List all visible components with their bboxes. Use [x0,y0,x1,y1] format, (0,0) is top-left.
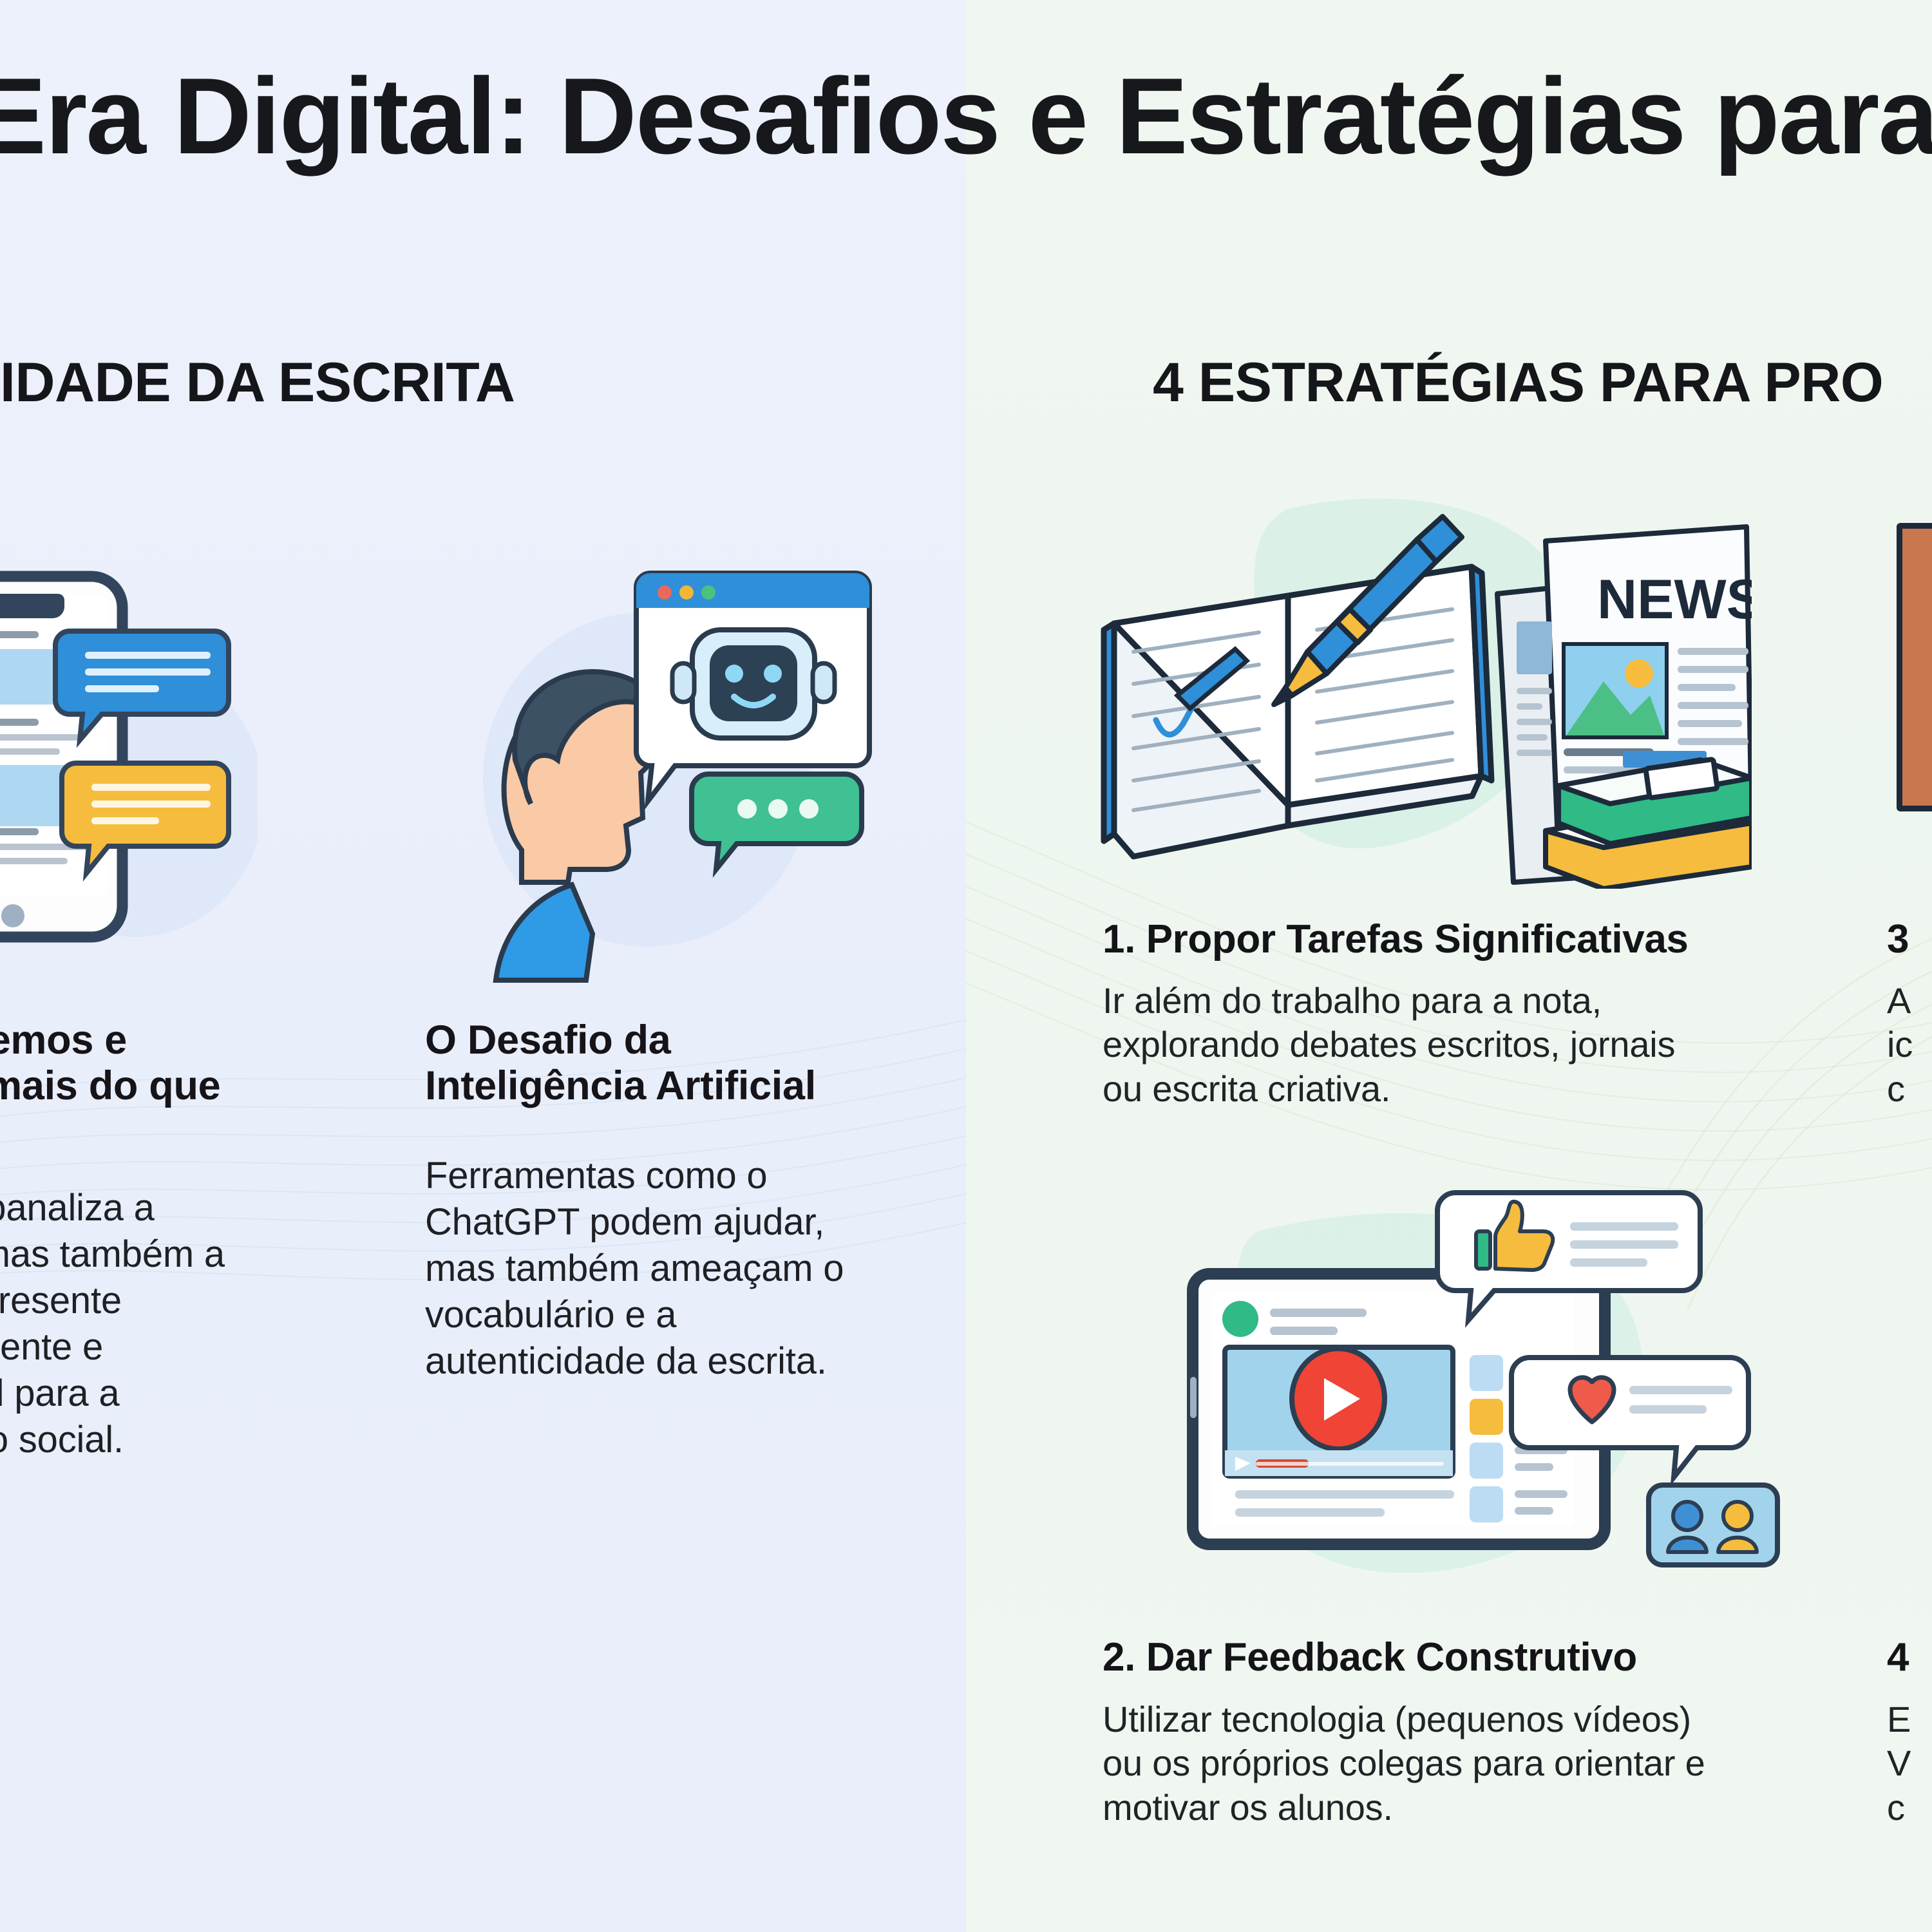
card-ia-title-line-1: O Desafio da [425,1018,902,1063]
card-escrevemos-body-line-3: onipresente [0,1278,340,1324]
strategy-4-body-line-1: E [1887,1698,1932,1741]
card-escrevemos-title: revemos e os mais do que ca [0,1018,340,1155]
page-title: Era Digital: Desafios e Estratégias para… [0,61,1932,171]
card-escrevemos-title-line-2: os mais do que [0,1063,340,1109]
strategy-3-title: 3 [1887,918,1909,961]
strategy-2-body-line-2: ou os próprios colegas para orientar e [1103,1741,1875,1785]
card-escrevemos-body: ital banaliza a ta, mas também a onipres… [0,1185,340,1463]
card-escrevemos-body-line-1: ital banaliza a [0,1185,340,1231]
strategy-1-title: 1. Propor Tarefas Significativas [1103,918,1688,961]
newspaper-masthead: NEWS [1597,569,1752,630]
card-ia-body-line-3: mas também ameaçam o [425,1245,914,1292]
strategy-3-body: A ic c [1887,979,1932,1111]
card-escrevemos-body-line-2: ta, mas também a [0,1231,340,1278]
book-pen-newspaper-illustration: NEWS [1095,483,1752,889]
card-ia-body-line-1: Ferramentas como o [425,1153,914,1199]
card-ia-body: Ferramentas como o ChatGPT podem ajudar,… [425,1153,914,1385]
right-section-header: 4 ESTRATÉGIAS PARA PRO [1153,351,1883,415]
strategy-2-body: Utilizar tecnologia (pequenos vídeos) ou… [1103,1698,1875,1830]
strategy-2-title: 2. Dar Feedback Construtivo [1103,1636,1637,1680]
strategy-3-body-line-1: A [1887,979,1932,1023]
strategy-4-body-line-2: V [1887,1741,1932,1785]
strategy-4-body: E V c [1887,1698,1932,1830]
card-ia-body-line-4: vocabulário e a [425,1292,914,1338]
strategy-3-body-line-2: ic [1887,1023,1932,1066]
strategy-2-body-line-1: Utilizar tecnologia (pequenos vídeos) [1103,1698,1875,1741]
card-ia-title: O Desafio da Inteligência Artificial [425,1018,902,1109]
card-ia-body-line-5: autenticidade da escrita. [425,1338,914,1385]
card-escrevemos-body-line-5: ncial para a [0,1370,340,1417]
smartphone-chat-illustration [0,541,258,992]
person-ai-chatbot-illustration [399,547,889,1005]
strategy-1-body-line-1: Ir além do trabalho para a nota, [1103,979,1862,1023]
strategy-2-body-line-3: motivar os alunos. [1103,1786,1875,1830]
card-ia-body-line-2: ChatGPT podem ajudar, [425,1199,914,1245]
strategy-4-body-line-3: c [1887,1786,1932,1830]
tablet-video-reactions-illustration [1179,1172,1797,1597]
left-section-header: LIDADE DA ESCRITA [0,351,515,415]
infographic-poster: Era Digital: Desafios e Estratégias para… [0,0,1932,1932]
card-escrevemos-body-line-6: ação social. [0,1417,340,1463]
card-escrevemos-title-line-1: revemos e [0,1018,340,1063]
card-ia-title-line-2: Inteligência Artificial [425,1063,902,1109]
partial-orange-panel-illustration [1897,523,1932,811]
strategy-3-body-line-3: c [1887,1067,1932,1111]
strategy-4-title: 4 [1887,1636,1909,1680]
strategy-1-body-line-2: explorando debates escritos, jornais [1103,1023,1862,1066]
card-escrevemos-body-line-4: presente e [0,1324,340,1370]
strategy-1-body: Ir além do trabalho para a nota, explora… [1103,979,1862,1111]
strategy-1-body-line-3: ou escrita criativa. [1103,1067,1862,1111]
card-escrevemos-title-line-3: ca [0,1109,340,1155]
